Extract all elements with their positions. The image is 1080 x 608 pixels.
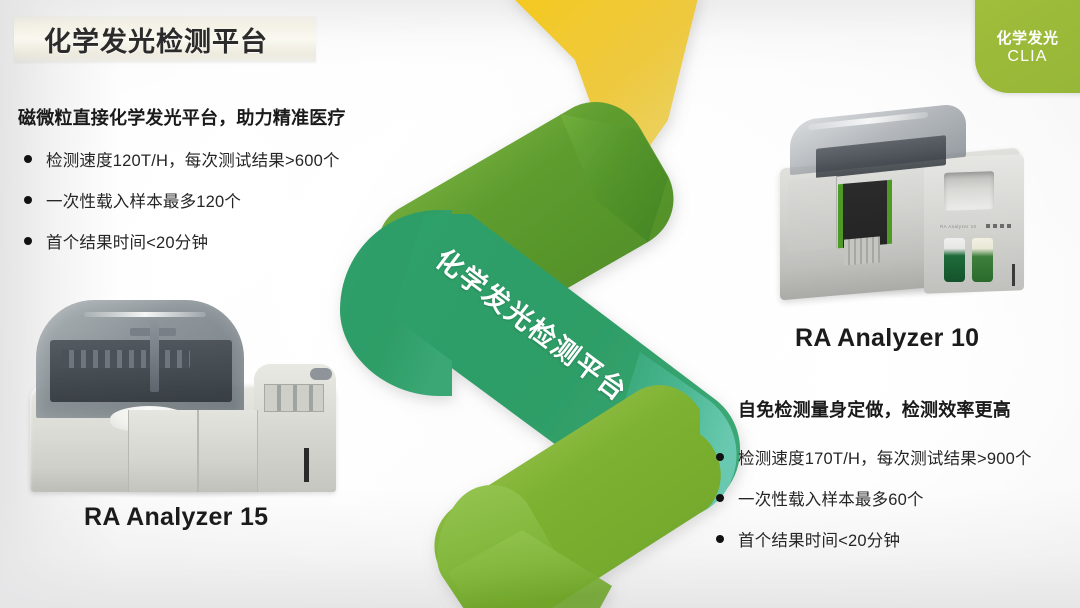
bullet-dot-icon bbox=[716, 494, 724, 502]
bullet-text: 一次性载入样本最多120个 bbox=[46, 188, 241, 212]
list-item: 检测速度120T/H，每次测试结果>600个 bbox=[24, 147, 340, 171]
reagent-bottle-right bbox=[972, 238, 993, 282]
bullet-dot-icon bbox=[716, 535, 724, 543]
ribbon-label: 化学发光检测平台 bbox=[429, 238, 638, 409]
analyzer-waste-bin bbox=[944, 171, 994, 211]
analyzer-accent-stripe bbox=[304, 448, 309, 482]
brand-text-group: 化学发光 CLIA bbox=[975, 30, 1080, 67]
bullet-dot-icon bbox=[24, 237, 32, 245]
bullet-text: 检测速度120T/H，每次测试结果>600个 bbox=[46, 147, 340, 171]
slide-canvas: 化学发光检测平台 化学发光 CLIA 化学发光检测平台 磁微粒直接化学发光平台，… bbox=[0, 0, 1080, 608]
analyzer-probe-arm bbox=[150, 320, 159, 392]
right-panel-heading: 自免检测量身定做，检测效率更高 bbox=[738, 396, 1011, 422]
analyzer-status-leds bbox=[986, 224, 1012, 228]
bullet-text: 首个结果时间<20分钟 bbox=[46, 229, 208, 253]
ribbon-emerald-cap bbox=[340, 210, 452, 396]
product-photo-ra-analyzer-10: RA Analyzer 10 bbox=[744, 98, 1036, 314]
bullet-text: 检测速度170T/H，每次测试结果>900个 bbox=[738, 445, 1032, 469]
list-item: 首个结果时间<20分钟 bbox=[716, 527, 1032, 551]
ribbon-lime-bottom bbox=[448, 530, 612, 608]
bullet-text: 首个结果时间<20分钟 bbox=[738, 527, 900, 551]
analyzer-cartridge-slot bbox=[264, 384, 324, 412]
list-item: 一次性载入样本最多60个 bbox=[716, 486, 1032, 510]
list-item: 一次性载入样本最多120个 bbox=[24, 188, 340, 212]
bullet-dot-icon bbox=[24, 196, 32, 204]
analyzer-door-left bbox=[128, 410, 198, 492]
analyzer-door-right bbox=[198, 410, 258, 492]
list-item: 检测速度170T/H，每次测试结果>900个 bbox=[716, 445, 1032, 469]
product-photo-ra-analyzer-15 bbox=[22, 298, 352, 498]
left-panel-heading: 磁微粒直接化学发光平台，助力精准医疗 bbox=[18, 104, 346, 130]
analyzer-knob bbox=[310, 368, 332, 380]
brand-label-en: CLIA bbox=[975, 48, 1080, 67]
right-panel-bullet-list: 检测速度170T/H，每次测试结果>900个 一次性载入样本最多60个 首个结果… bbox=[716, 445, 1032, 568]
reagent-bottle-left bbox=[944, 238, 965, 282]
ribbon-segment-emerald bbox=[352, 214, 734, 516]
ribbon-lime-tail bbox=[437, 485, 560, 608]
ribbon-segment-gold bbox=[505, 0, 700, 160]
product-caption-right: RA Analyzer 10 bbox=[795, 324, 979, 353]
ribbon-segment-lime bbox=[434, 385, 720, 608]
bullet-dot-icon bbox=[716, 453, 724, 461]
analyzer-vent-grille bbox=[844, 236, 880, 265]
cover-highlight bbox=[84, 312, 206, 317]
bullet-dot-icon bbox=[24, 155, 32, 163]
left-panel-bullet-list: 检测速度120T/H，每次测试结果>600个 一次性载入样本最多120个 首个结… bbox=[24, 147, 340, 270]
brand-label-cn: 化学发光 bbox=[975, 30, 1080, 48]
analyzer-brand-text: RA Analyzer 10 bbox=[940, 224, 976, 229]
list-item: 首个结果时间<20分钟 bbox=[24, 229, 340, 253]
analyzer-accent-stripe bbox=[1012, 264, 1015, 286]
page-title: 化学发光检测平台 bbox=[44, 20, 268, 59]
ribbon-crease-leaf bbox=[560, 114, 668, 242]
analyzer-door-left bbox=[788, 176, 837, 252]
analyzer-sample-rack bbox=[62, 350, 190, 368]
bullet-text: 一次性载入样本最多60个 bbox=[738, 486, 924, 510]
product-caption-left: RA Analyzer 15 bbox=[84, 503, 268, 532]
